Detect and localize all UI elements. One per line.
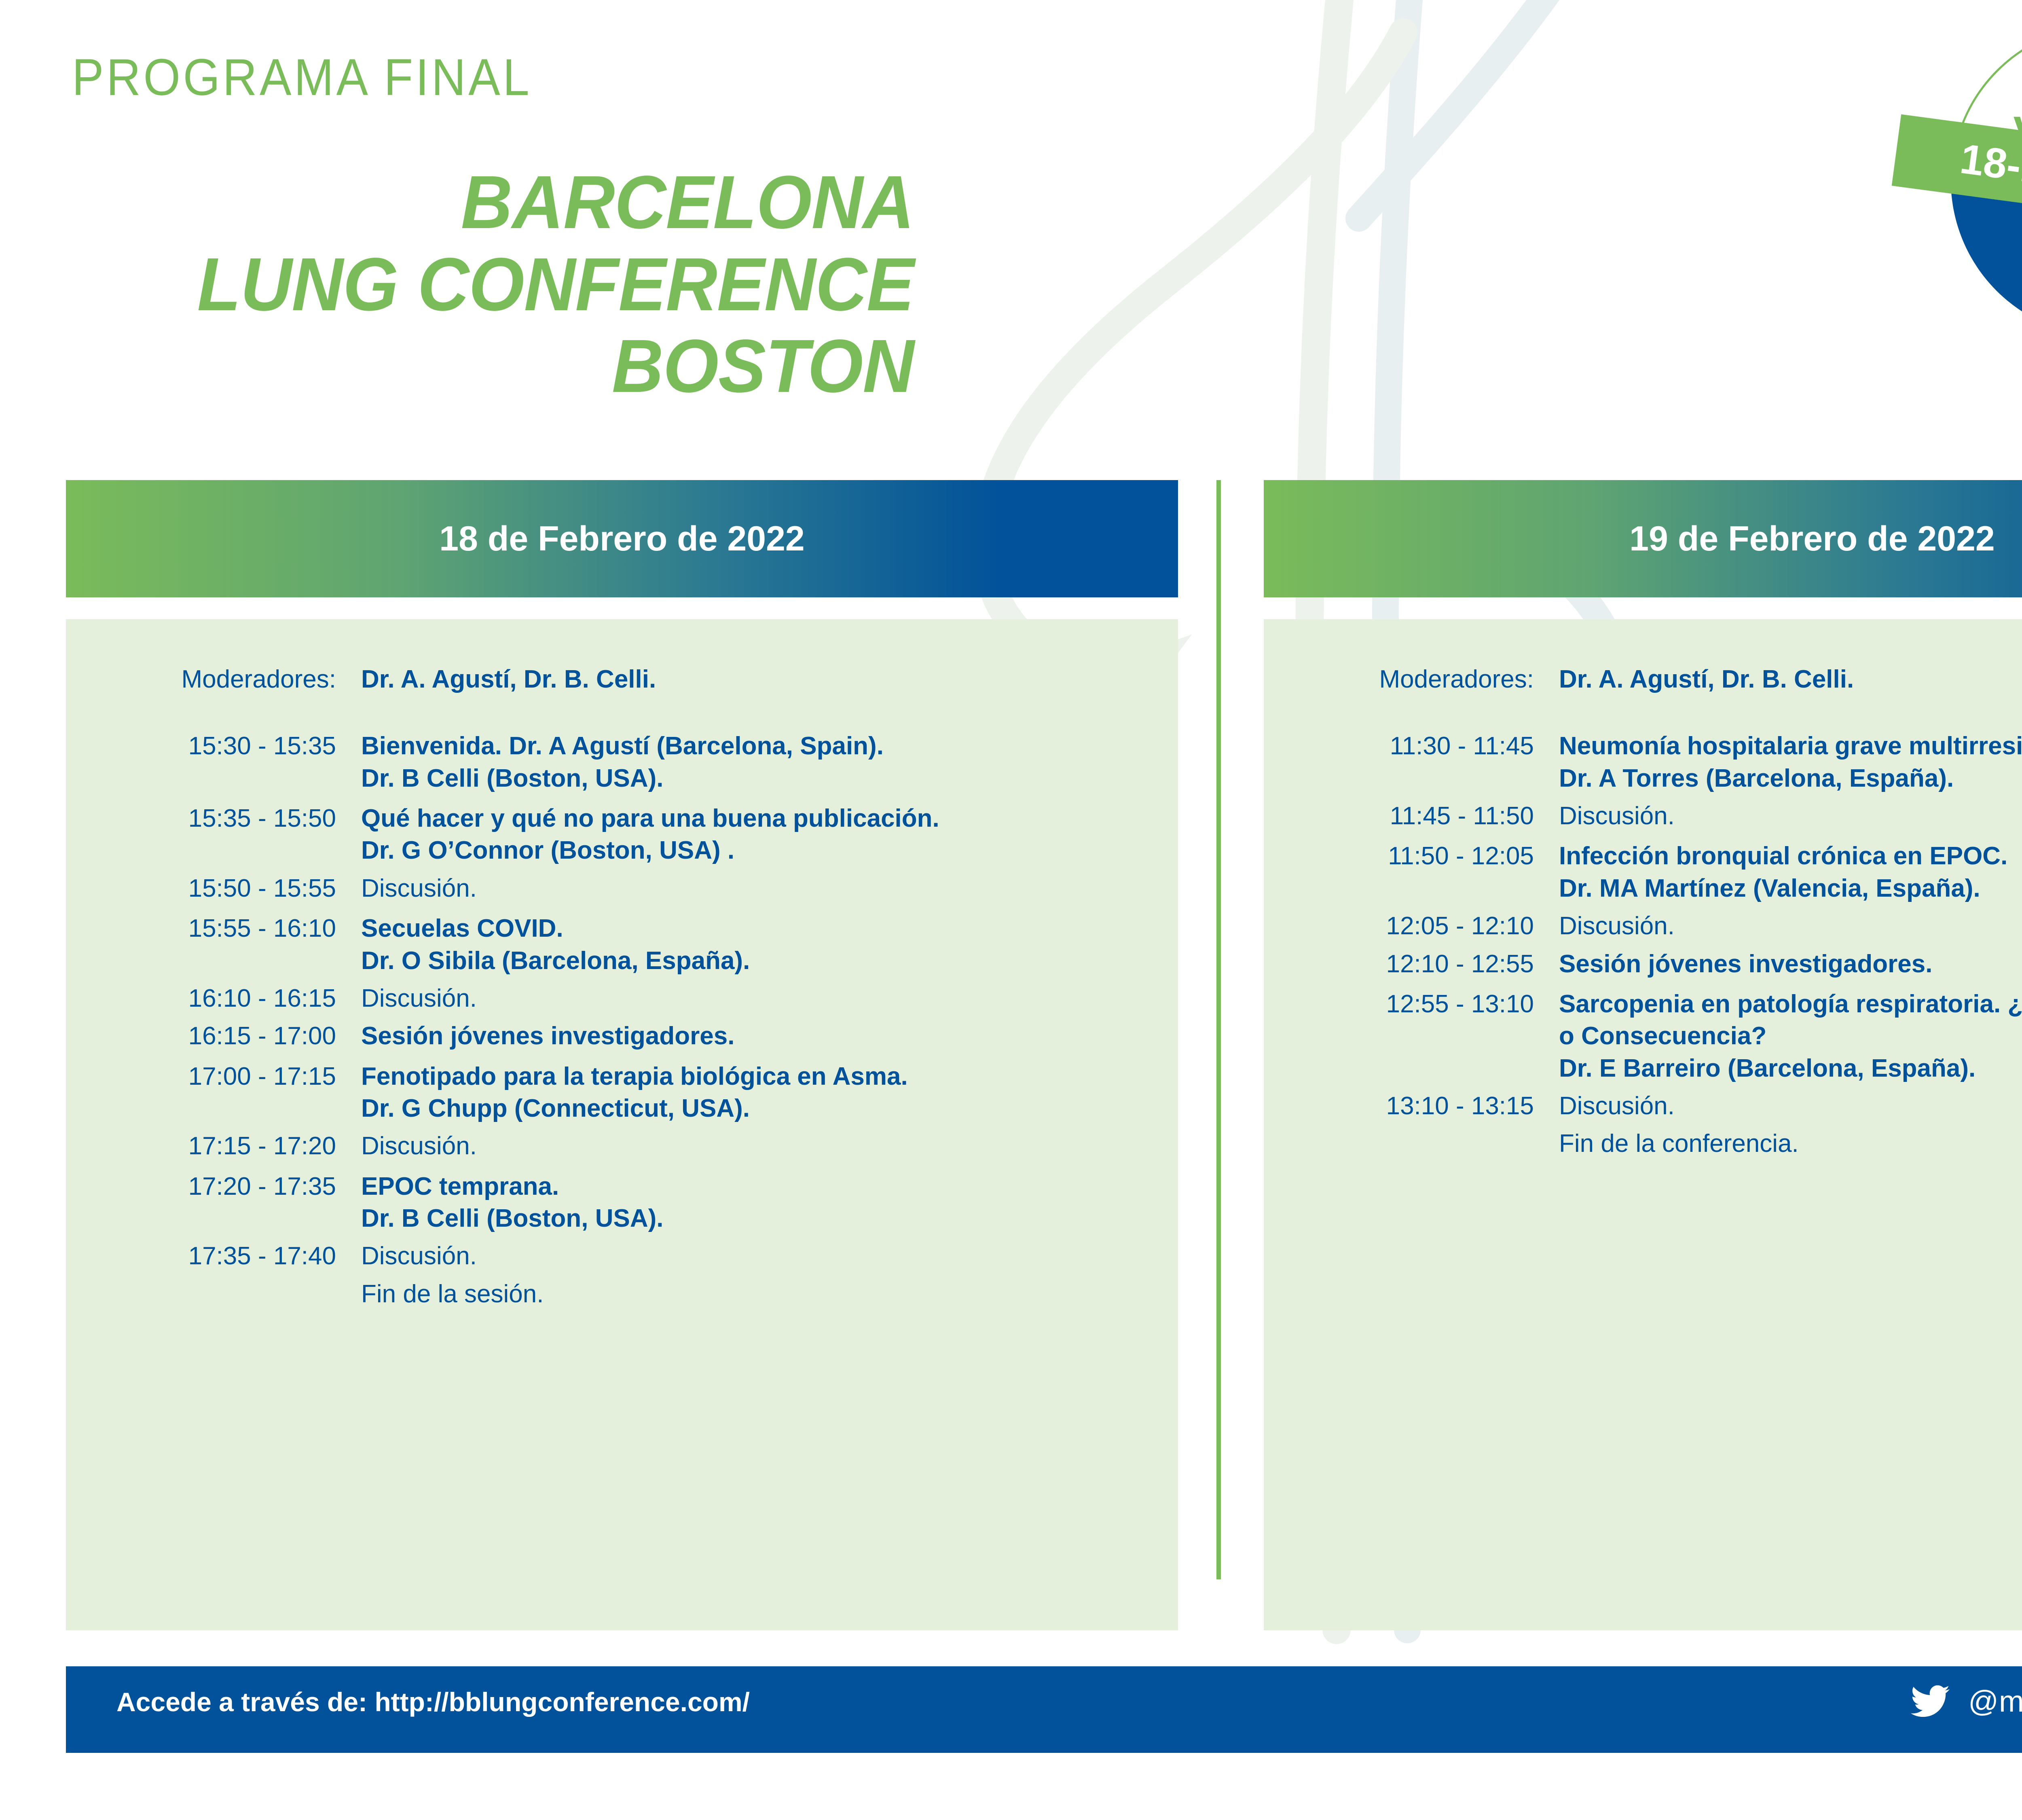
- schedule-line: Qué hacer y qué no para una buena public…: [361, 802, 1178, 834]
- schedule-description: Sarcopenia en patología respiratoria. ¿C…: [1559, 988, 2022, 1084]
- schedule-row: 15:50 - 15:55Discusión.: [66, 872, 1178, 904]
- moderators-row: Moderadores:Dr. A. Agustí, Dr. B. Celli.: [66, 663, 1178, 695]
- day-2-date-label: 19 de Febrero de 2022: [1629, 519, 1995, 559]
- schedule-description: Discusión.: [361, 1240, 1178, 1272]
- schedule-row: 17:00 - 17:15Fenotipado para la terapia …: [66, 1060, 1178, 1125]
- schedule-row: 17:20 - 17:35EPOC temprana.Dr. B Celli (…: [66, 1170, 1178, 1235]
- schedule-line: Dr. G Chupp (Connecticut, USA).: [361, 1092, 1178, 1124]
- badge-evento-label: EVENTO: [1960, 72, 2022, 112]
- schedule-time: 15:50 - 15:55: [66, 872, 361, 904]
- title-line-boston: BOSTON: [46, 326, 914, 408]
- schedule-description: Discusión.: [1559, 910, 2022, 942]
- schedule-line: o Consecuencia?: [1559, 1020, 2022, 1052]
- schedule-time: 15:35 - 15:50: [66, 802, 361, 834]
- schedule-line: Discusión.: [361, 1130, 1178, 1162]
- title-line-barcelona: BARCELONA: [46, 162, 914, 244]
- schedule-time: 11:50 - 12:05: [1264, 840, 1559, 872]
- day-2-schedule: Moderadores:Dr. A. Agustí, Dr. B. Celli.…: [1264, 663, 2022, 1166]
- schedule-row: 17:15 - 17:20Discusión.: [66, 1130, 1178, 1162]
- schedule-description: Secuelas COVID.Dr. O Sibila (Barcelona, …: [361, 912, 1178, 977]
- schedule-line: Dr. O Sibila (Barcelona, España).: [361, 945, 1178, 977]
- twitter-icon[interactable]: [1911, 1685, 1950, 1718]
- schedule-time: 12:10 - 12:55: [1264, 948, 1559, 980]
- schedule-line: Discusión.: [361, 1240, 1178, 1272]
- programa-final-kicker: PROGRAMA FINAL: [72, 48, 532, 107]
- schedule-row: 15:55 - 16:10Secuelas COVID.Dr. O Sibila…: [66, 912, 1178, 977]
- schedule-line: Dr. G O’Connor (Boston, USA) .: [361, 834, 1178, 866]
- schedule-time: 11:45 - 11:50: [1264, 800, 1559, 832]
- schedule-time: 17:00 - 17:15: [66, 1060, 361, 1092]
- schedule-description: Discusión.: [361, 872, 1178, 904]
- schedule-line: Discusión.: [1559, 800, 2022, 832]
- schedule-row: 16:15 - 17:00Sesión jóvenes investigador…: [66, 1020, 1178, 1052]
- title-line-lung-conference: LUNG CONFERENCE: [46, 244, 914, 326]
- schedule-row: 12:55 - 13:10Sarcopenia en patología res…: [1264, 988, 2022, 1084]
- schedule-time: 11:30 - 11:45: [1264, 730, 1559, 762]
- schedule-description: Infección bronquial crónica en EPOC.Dr. …: [1559, 840, 2022, 904]
- schedule-time: 16:15 - 17:00: [66, 1020, 361, 1052]
- schedule-time: 15:55 - 16:10: [66, 912, 361, 944]
- schedule-row: 12:05 - 12:10Discusión.: [1264, 910, 2022, 942]
- event-badge: EVENTO VIRTUAL 18-19 Febrero 2022: [1897, 24, 2022, 433]
- day-header-19-febrero: 19 de Febrero de 2022: [1264, 480, 2022, 597]
- badge-year-label: 2022: [1951, 226, 2022, 294]
- day-1-date-label: 18 de Febrero de 2022: [439, 519, 804, 559]
- schedule-line: Dr. MA Martínez (Valencia, España).: [1559, 872, 2022, 904]
- conference-title: BARCELONA LUNG CONFERENCE BOSTON: [46, 162, 914, 408]
- schedule-time: 17:15 - 17:20: [66, 1130, 361, 1162]
- schedule-row: 15:30 - 15:35Bienvenida. Dr. A Agustí (B…: [66, 730, 1178, 794]
- schedule-description: Qué hacer y qué no para una buena public…: [361, 802, 1178, 867]
- schedule-line: Discusión.: [361, 982, 1178, 1014]
- schedule-line: Dr. A Torres (Barcelona, España).: [1559, 762, 2022, 794]
- schedule-row: Fin de la sesión.: [66, 1278, 1178, 1310]
- schedule-time: 16:10 - 16:15: [66, 982, 361, 1014]
- schedule-row: 11:30 - 11:45Neumonía hospitalaria grave…: [1264, 730, 2022, 794]
- day-1-schedule: Moderadores:Dr. A. Agustí, Dr. B. Celli.…: [66, 663, 1178, 1316]
- schedule-row: 17:35 - 17:40Discusión.: [66, 1240, 1178, 1272]
- schedule-line: Fin de la conferencia.: [1559, 1128, 2022, 1160]
- footer-access-text[interactable]: Accede a través de: http://bblungconfere…: [116, 1687, 750, 1717]
- schedule-row: Fin de la conferencia.: [1264, 1128, 2022, 1160]
- schedule-row: 16:10 - 16:15Discusión.: [66, 982, 1178, 1014]
- twitter-handle-label[interactable]: @menarini_es: [1968, 1684, 2022, 1718]
- schedule-row: 15:35 - 15:50Qué hacer y qué no para una…: [66, 802, 1178, 867]
- day-header-18-febrero: 18 de Febrero de 2022: [66, 480, 1178, 597]
- moderators-row: Moderadores:Dr. A. Agustí, Dr. B. Celli.: [1264, 663, 2022, 695]
- schedule-description: Bienvenida. Dr. A Agustí (Barcelona, Spa…: [361, 730, 1178, 794]
- schedule-line: Sarcopenia en patología respiratoria. ¿C…: [1559, 988, 2022, 1020]
- schedule-description: Sesión jóvenes investigadores.: [1559, 948, 2022, 980]
- schedule-row: 12:10 - 12:55Sesión jóvenes investigador…: [1264, 948, 2022, 980]
- poster-canvas: PROGRAMA FINAL BARCELONA LUNG CONFERENCE…: [0, 0, 2022, 1820]
- schedule-line: Neumonía hospitalaria grave multirresist…: [1559, 730, 2022, 762]
- schedule-time: 17:20 - 17:35: [66, 1170, 361, 1202]
- footer-social: @menarini_es #BBLC22: [1911, 1684, 2022, 1718]
- schedule-time: 12:55 - 13:10: [1264, 988, 1559, 1020]
- schedule-row: 11:45 - 11:50Discusión.: [1264, 800, 2022, 832]
- schedule-description: Discusión.: [361, 1130, 1178, 1162]
- schedule-line: Sesión jóvenes investigadores.: [1559, 948, 2022, 980]
- moderators-value: Dr. A. Agustí, Dr. B. Celli.: [1559, 663, 2022, 695]
- schedule-line: Discusión.: [1559, 1090, 2022, 1122]
- schedule-description: Discusión.: [1559, 800, 2022, 832]
- schedule-line: Fenotipado para la terapia biológica en …: [361, 1060, 1178, 1092]
- schedule-description: Fin de la conferencia.: [1559, 1128, 2022, 1160]
- schedule-time: 17:35 - 17:40: [66, 1240, 361, 1272]
- schedule-line: Dr. B Celli (Boston, USA).: [361, 762, 1178, 794]
- schedule-line: Sesión jóvenes investigadores.: [361, 1020, 1178, 1052]
- moderators-label: Moderadores:: [1264, 663, 1559, 695]
- footer-bar: Accede a través de: http://bblungconfere…: [66, 1666, 2022, 1753]
- schedule-time: 13:10 - 13:15: [1264, 1090, 1559, 1122]
- moderators-value: Dr. A. Agustí, Dr. B. Celli.: [361, 663, 1178, 695]
- schedule-description: EPOC temprana.Dr. B Celli (Boston, USA).: [361, 1170, 1178, 1235]
- schedule-description: Sesión jóvenes investigadores.: [361, 1020, 1178, 1052]
- schedule-description: Neumonía hospitalaria grave multirresist…: [1559, 730, 2022, 794]
- moderators-label: Moderadores:: [66, 663, 361, 695]
- schedule-time: 12:05 - 12:10: [1264, 910, 1559, 942]
- column-divider: [1216, 480, 1221, 1579]
- schedule-line: Discusión.: [1559, 910, 2022, 942]
- schedule-line: Dr. E Barreiro (Barcelona, España).: [1559, 1052, 2022, 1084]
- schedule-line: Bienvenida. Dr. A Agustí (Barcelona, Spa…: [361, 730, 1178, 762]
- schedule-row: 11:50 - 12:05Infección bronquial crónica…: [1264, 840, 2022, 904]
- schedule-time: 15:30 - 15:35: [66, 730, 361, 762]
- schedule-description: Discusión.: [361, 982, 1178, 1014]
- schedule-line: Dr. B Celli (Boston, USA).: [361, 1202, 1178, 1234]
- schedule-description: Fenotipado para la terapia biológica en …: [361, 1060, 1178, 1125]
- schedule-row: 13:10 - 13:15Discusión.: [1264, 1090, 2022, 1122]
- schedule-description: Fin de la sesión.: [361, 1278, 1178, 1310]
- schedule-line: Fin de la sesión.: [361, 1278, 1178, 1310]
- schedule-line: Secuelas COVID.: [361, 912, 1178, 944]
- schedule-description: Discusión.: [1559, 1090, 2022, 1122]
- schedule-line: EPOC temprana.: [361, 1170, 1178, 1202]
- schedule-line: Infección bronquial crónica en EPOC.: [1559, 840, 2022, 872]
- schedule-line: Discusión.: [361, 872, 1178, 904]
